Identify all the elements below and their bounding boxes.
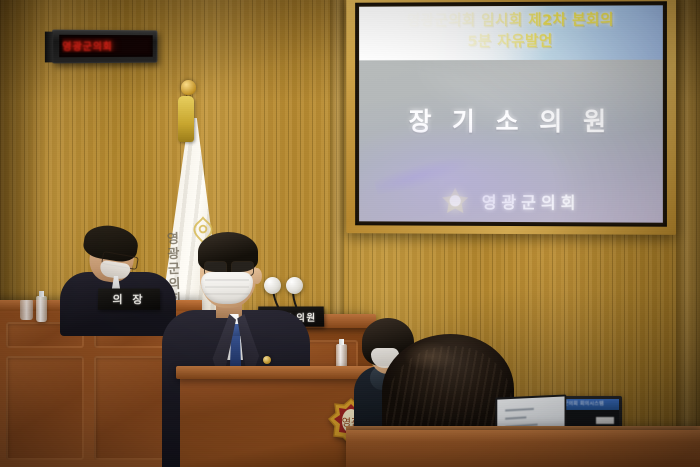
nameplate-chair-text: 의 장 <box>112 291 145 306</box>
led-display-face: 영광군의회 <box>59 35 152 57</box>
drinking-glass <box>20 300 33 320</box>
led-info-display: 영광군의회 <box>52 30 157 64</box>
projection-screen-bezel: 영광군의회 임시회 제2차 본회의 5분 자유발언 장 기 소 의 원 영광군의… <box>355 1 667 227</box>
presiding-officer <box>62 228 172 328</box>
monitor-content-row <box>596 417 614 424</box>
laptop-text-line <box>505 408 534 412</box>
council-chamber-photo: 영광군의회 임시회 제2차 본회의 5분 자유발언 장 기 소 의 원 영광군의… <box>0 0 700 467</box>
nameplate-chair: 의 장 <box>98 289 160 310</box>
flag-tassel <box>178 96 194 142</box>
projection-screen: 영광군의회 임시회 제2차 본회의 5분 자유발언 장 기 소 의 원 영광군의… <box>359 5 663 222</box>
front-desk <box>346 430 700 467</box>
slide-logo-block: 영광군의회 <box>359 186 663 217</box>
slide-header-line-2: 5분 자유발언 <box>359 29 663 51</box>
led-display-side <box>45 32 53 63</box>
council-emblem-icon <box>440 186 470 216</box>
speaker-lapel-pin-icon <box>263 356 271 364</box>
projection-screen-frame: 영광군의회 임시회 제2차 본회의 5분 자유발언 장 기 소 의 원 영광군의… <box>346 0 676 235</box>
slide-speaker-name: 장 기 소 의 원 <box>359 102 663 138</box>
slide-organization-label: 영광군의회 <box>482 189 581 213</box>
dais-panel <box>94 356 172 460</box>
slide-header-banner: 영광군의회 임시회 제2차 본회의 5분 자유발언 <box>359 5 663 60</box>
staff-right-hair-highlight <box>400 340 474 394</box>
water-bottle <box>36 296 47 322</box>
flag-finial-icon <box>181 80 196 95</box>
podium-desk-edge <box>176 366 386 379</box>
led-display-text: 영광군의회 <box>62 38 151 52</box>
laptop-text-line <box>505 416 526 419</box>
slide-header-line-1: 영광군의회 임시회 제2차 본회의 <box>359 8 663 30</box>
dais-panel <box>6 356 84 460</box>
